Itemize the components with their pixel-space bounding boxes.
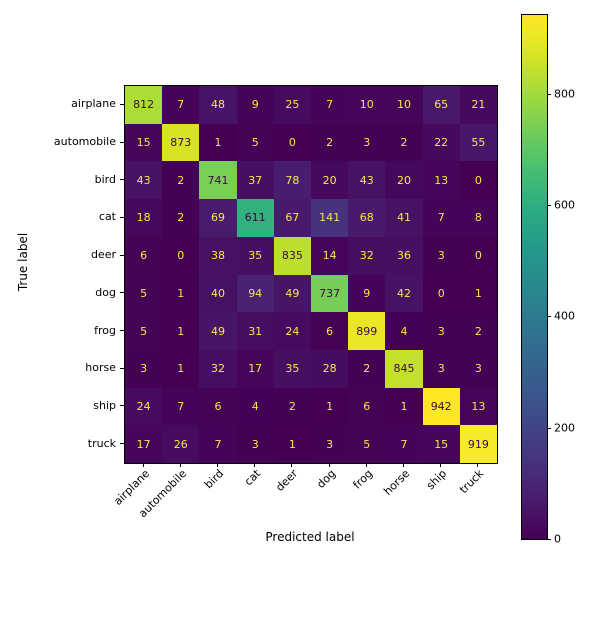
matrix-cell: 2 [311,124,348,162]
colorbar-tick-mark [547,539,551,540]
matrix-cell-value: 6 [326,326,333,337]
matrix-cell: 9 [348,275,385,313]
matrix-cell: 2 [274,388,311,426]
matrix-cell-value: 5 [140,288,147,299]
matrix-cell-value: 3 [326,439,333,450]
matrix-cell-value: 611 [245,212,266,223]
matrix-cell: 741 [199,161,236,199]
matrix-cell: 15 [125,124,162,162]
matrix-cell: 4 [237,388,274,426]
matrix-cell: 17 [125,425,162,463]
y-tick-mark [120,179,124,180]
y-tick-mark [120,405,124,406]
matrix-cell-value: 6 [140,250,147,261]
matrix-cell-value: 17 [248,363,262,374]
matrix-cell-value: 13 [434,175,448,186]
matrix-cell-value: 2 [177,212,184,223]
matrix-cell: 1 [311,388,348,426]
matrix-cell: 24 [125,388,162,426]
matrix-cell-value: 812 [133,99,154,110]
matrix-cell-value: 31 [248,326,262,337]
matrix-cell-value: 6 [214,401,221,412]
matrix-cell: 1 [274,425,311,463]
matrix-cell-value: 3 [438,250,445,261]
colorbar-tick-label-800: 800 [554,87,575,100]
matrix-cell: 41 [385,199,422,237]
matrix-cell: 68 [348,199,385,237]
matrix-cell-value: 7 [400,439,407,450]
colorbar-tick-mark [547,428,551,429]
matrix-cell-value: 65 [434,99,448,110]
matrix-cell-value: 7 [177,401,184,412]
matrix-cell: 31 [237,312,274,350]
matrix-cell: 14 [311,237,348,275]
matrix-cell: 42 [385,275,422,313]
matrix-cell-value: 7 [326,99,333,110]
matrix-cell-value: 43 [137,175,151,186]
colorbar-tick-mark [547,205,551,206]
matrix-cell: 141 [311,199,348,237]
matrix-cell: 3 [348,124,385,162]
y-tick-label-ship: ship [0,387,116,425]
y-tick-label-truck: truck [0,424,116,462]
matrix-cell: 737 [311,275,348,313]
matrix-cell-value: 32 [360,250,374,261]
matrix-cell-value: 0 [438,288,445,299]
matrix-cell: 65 [423,86,460,124]
matrix-cell-value: 1 [214,137,221,148]
matrix-cell-value: 2 [475,326,482,337]
matrix-cell-value: 1 [177,326,184,337]
y-tick-label-bird: bird [0,160,116,198]
matrix-cell-value: 17 [137,439,151,450]
colorbar [521,14,548,540]
matrix-cell: 32 [199,350,236,388]
matrix-cell-value: 14 [323,250,337,261]
matrix-cell-value: 0 [177,250,184,261]
x-axis-title: Predicted label [124,530,496,544]
matrix-cell-value: 873 [170,137,191,148]
matrix-cell-value: 919 [468,439,489,450]
y-tick-mark [120,142,124,143]
matrix-cell-value: 8 [475,212,482,223]
matrix-cell: 7 [199,425,236,463]
matrix-cell: 4 [385,312,422,350]
matrix-cell-value: 38 [211,250,225,261]
matrix-cell-value: 0 [289,137,296,148]
matrix-cell-value: 3 [438,326,445,337]
matrix-cell: 7 [311,86,348,124]
matrix-cell-value: 40 [211,288,225,299]
matrix-cell: 6 [311,312,348,350]
matrix-cell: 13 [423,161,460,199]
matrix-cell-value: 7 [438,212,445,223]
matrix-cell: 7 [423,199,460,237]
matrix-cell-value: 21 [471,99,485,110]
matrix-cell: 40 [199,275,236,313]
y-tick-mark [120,217,124,218]
y-tick-label-horse: horse [0,349,116,387]
matrix-cell: 1 [460,275,497,313]
matrix-cell-value: 42 [397,288,411,299]
matrix-cell: 20 [385,161,422,199]
matrix-cell: 24 [274,312,311,350]
matrix-cell: 7 [385,425,422,463]
matrix-cell: 3 [423,350,460,388]
matrix-cell-value: 26 [174,439,188,450]
colorbar-tick-mark [547,316,551,317]
y-tick-label-dog: dog [0,274,116,312]
matrix-cell: 5 [237,124,274,162]
matrix-cell: 6 [199,388,236,426]
heatmap-plot-area: 8127489257101065211587315023222554327413… [124,85,498,464]
matrix-cell: 36 [385,237,422,275]
matrix-cell: 899 [348,312,385,350]
colorbar-tick-label-200: 200 [554,421,575,434]
matrix-cell-value: 3 [363,137,370,148]
matrix-cell-value: 67 [285,212,299,223]
matrix-cell-value: 7 [214,439,221,450]
matrix-cell: 9 [237,86,274,124]
matrix-cell-value: 1 [289,439,296,450]
matrix-cell-value: 68 [360,212,374,223]
y-tick-label-deer: deer [0,236,116,274]
matrix-cell: 1 [162,312,199,350]
x-axis-tick-labels: airplaneautomobilebirdcatdeerdogfroghors… [124,463,496,523]
matrix-cell-value: 35 [248,250,262,261]
matrix-cell-value: 20 [397,175,411,186]
matrix-cell-value: 0 [475,250,482,261]
matrix-cell: 845 [385,350,422,388]
matrix-cell: 7 [162,86,199,124]
matrix-cell-value: 3 [140,363,147,374]
matrix-cell-value: 5 [252,137,259,148]
matrix-cell: 78 [274,161,311,199]
matrix-cell: 15 [423,425,460,463]
matrix-cell: 3 [423,312,460,350]
matrix-cell: 35 [237,237,274,275]
matrix-cell-value: 48 [211,99,225,110]
matrix-cell-value: 899 [356,326,377,337]
matrix-cell: 873 [162,124,199,162]
matrix-cell: 3 [311,425,348,463]
matrix-cell-value: 9 [363,288,370,299]
matrix-cell-value: 2 [363,363,370,374]
y-tick-label-airplane: airplane [0,85,116,123]
matrix-cell-value: 4 [252,401,259,412]
matrix-cell: 0 [460,161,497,199]
matrix-cell-value: 28 [323,363,337,374]
matrix-cell: 0 [162,237,199,275]
matrix-cell: 69 [199,199,236,237]
matrix-cell: 2 [460,312,497,350]
matrix-cell: 0 [274,124,311,162]
matrix-cell-value: 3 [252,439,259,450]
matrix-cell-value: 7 [177,99,184,110]
matrix-cell: 1 [162,350,199,388]
matrix-cell: 6 [125,237,162,275]
matrix-cell-value: 69 [211,212,225,223]
matrix-cell: 67 [274,199,311,237]
matrix-cell-value: 1 [326,401,333,412]
matrix-cell: 37 [237,161,274,199]
matrix-cell-value: 2 [326,137,333,148]
matrix-cell-value: 9 [252,99,259,110]
matrix-cell: 835 [274,237,311,275]
matrix-cell: 1 [162,275,199,313]
matrix-cell-value: 737 [319,288,340,299]
matrix-cell: 17 [237,350,274,388]
matrix-cell: 55 [460,124,497,162]
matrix-cell: 10 [385,86,422,124]
y-tick-mark [120,368,124,369]
matrix-cell-value: 36 [397,250,411,261]
matrix-cell: 28 [311,350,348,388]
matrix-cell-value: 15 [137,137,151,148]
y-axis-tick-labels: airplaneautomobilebirdcatdeerdogfroghors… [0,85,116,462]
matrix-cell-value: 141 [319,212,340,223]
matrix-cell: 2 [162,199,199,237]
matrix-cell: 942 [423,388,460,426]
matrix-cell-value: 3 [475,363,482,374]
matrix-cell-value: 2 [400,137,407,148]
matrix-cell: 1 [385,388,422,426]
matrix-cell: 48 [199,86,236,124]
matrix-cell: 7 [162,388,199,426]
x-tick-mark [291,463,292,467]
matrix-cell-value: 10 [397,99,411,110]
matrix-cell-value: 1 [475,288,482,299]
y-tick-mark [120,104,124,105]
matrix-cell-value: 24 [137,401,151,412]
matrix-cell: 3 [125,350,162,388]
matrix-cell: 94 [237,275,274,313]
colorbar-tick-labels: 0200400600800 [547,14,597,540]
matrix-cell: 5 [348,425,385,463]
matrix-cell: 43 [125,161,162,199]
matrix-cell-value: 15 [434,439,448,450]
matrix-cell: 5 [125,275,162,313]
matrix-cell-value: 22 [434,137,448,148]
y-tick-label-automobile: automobile [0,123,116,161]
matrix-cell-value: 2 [177,175,184,186]
matrix-cell-value: 845 [393,363,414,374]
y-tick-mark [120,255,124,256]
matrix-cell: 0 [460,237,497,275]
y-tick-mark [120,443,124,444]
matrix-cell-value: 37 [248,175,262,186]
matrix-cell: 3 [423,237,460,275]
matrix-cell: 2 [348,350,385,388]
matrix-cell-value: 3 [438,363,445,374]
matrix-cell: 0 [423,275,460,313]
matrix-cell-value: 741 [207,175,228,186]
matrix-cell: 10 [348,86,385,124]
matrix-cell: 32 [348,237,385,275]
matrix-cell: 18 [125,199,162,237]
matrix-cell: 21 [460,86,497,124]
matrix-cell-value: 49 [211,326,225,337]
matrix-cell: 22 [423,124,460,162]
matrix-cell: 6 [348,388,385,426]
matrix-cell-value: 41 [397,212,411,223]
matrix-cell-value: 4 [400,326,407,337]
matrix-cell-value: 2 [289,401,296,412]
matrix-cell-value: 94 [248,288,262,299]
matrix-cell-value: 1 [177,288,184,299]
matrix-cell-value: 49 [285,288,299,299]
matrix-cell-value: 1 [177,363,184,374]
confusion-matrix-figure: True label airplaneautomobilebirdcatdeer… [0,0,601,561]
y-tick-mark [120,330,124,331]
colorbar-tick-label-0: 0 [554,533,561,546]
matrix-cell: 2 [385,124,422,162]
matrix-cell-value: 5 [140,326,147,337]
matrix-cell: 49 [199,312,236,350]
colorbar-tick-label-600: 600 [554,199,575,212]
colorbar-tick-mark [547,94,551,95]
y-tick-label-frog: frog [0,311,116,349]
x-tick-mark [477,463,478,467]
matrix-cell-value: 25 [285,99,299,110]
matrix-cell-value: 835 [282,250,303,261]
matrix-cell-value: 32 [211,363,225,374]
matrix-cell-value: 20 [323,175,337,186]
matrix-cell-value: 43 [360,175,374,186]
y-tick-label-cat: cat [0,198,116,236]
matrix-cell: 49 [274,275,311,313]
confusion-matrix-grid: 8127489257101065211587315023222554327413… [125,86,497,463]
colorbar-tick-label-400: 400 [554,310,575,323]
matrix-cell-value: 18 [137,212,151,223]
matrix-cell: 26 [162,425,199,463]
matrix-cell: 3 [460,350,497,388]
matrix-cell-value: 10 [360,99,374,110]
matrix-cell-value: 6 [363,401,370,412]
matrix-cell-value: 1 [400,401,407,412]
matrix-cell: 38 [199,237,236,275]
matrix-cell: 611 [237,199,274,237]
y-tick-mark [120,292,124,293]
matrix-cell-value: 55 [471,137,485,148]
matrix-cell: 812 [125,86,162,124]
matrix-cell: 20 [311,161,348,199]
matrix-cell-value: 13 [471,401,485,412]
matrix-cell: 3 [237,425,274,463]
matrix-cell: 1 [199,124,236,162]
matrix-cell-value: 0 [475,175,482,186]
matrix-cell-value: 35 [285,363,299,374]
matrix-cell: 25 [274,86,311,124]
matrix-cell: 8 [460,199,497,237]
matrix-cell: 2 [162,161,199,199]
matrix-cell: 43 [348,161,385,199]
matrix-cell: 5 [125,312,162,350]
matrix-cell-value: 24 [285,326,299,337]
matrix-cell-value: 78 [285,175,299,186]
colorbar-gradient [522,15,547,539]
matrix-cell: 919 [460,425,497,463]
matrix-cell-value: 942 [431,401,452,412]
matrix-cell-value: 5 [363,439,370,450]
matrix-cell: 13 [460,388,497,426]
matrix-cell: 35 [274,350,311,388]
